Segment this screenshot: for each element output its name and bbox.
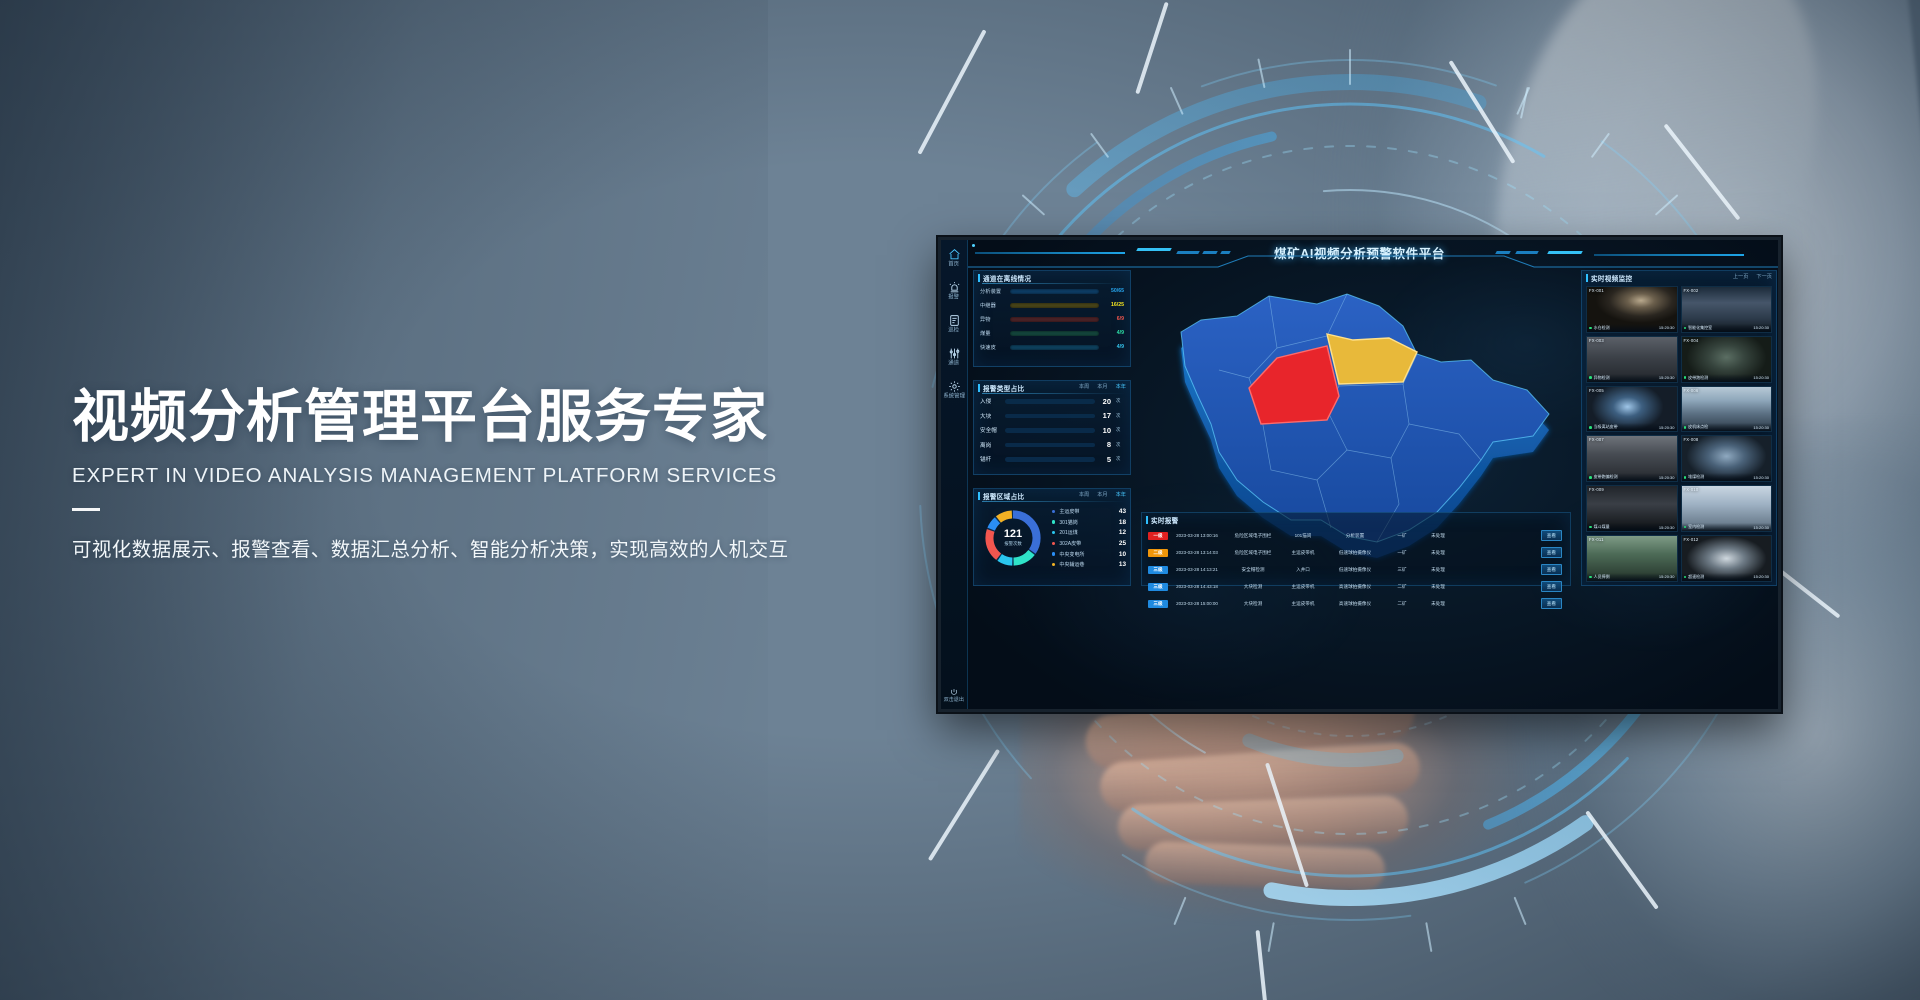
cell-mine: 二矿: [1384, 584, 1420, 590]
legend-value: 10: [1119, 551, 1126, 558]
channel-row: 分析装置50/65: [974, 284, 1130, 298]
cell-time: 2023-03-28 13:00:16: [1168, 533, 1226, 538]
cell-status: 未处理: [1420, 533, 1456, 539]
legend-color-dot: [1052, 531, 1055, 534]
camera-id: FX-008: [1684, 437, 1699, 442]
camera-name: 人员摔倒: [1594, 574, 1657, 580]
panel-title: 报警区域占比: [983, 491, 1024, 501]
channel-row-list: 分析装置50/65中继器16/25异物6/9煤量4/9快速皮4/9: [974, 284, 1130, 354]
camera-id: FX-002: [1684, 288, 1699, 293]
camera-timestamp: 15:20:30: [1753, 525, 1769, 530]
sidebar-footer-label: 双击退出: [944, 695, 964, 703]
camera-timestamp: 15:20:30: [1753, 574, 1769, 579]
camera-name: 水仓检测: [1594, 325, 1657, 331]
camera-timestamp: 15:20:30: [1659, 475, 1675, 480]
legend-value: 25: [1119, 540, 1126, 547]
view-button[interactable]: 查看: [1541, 547, 1562, 558]
channel-progress-track: [1010, 289, 1099, 294]
camera-timestamp: 15:20:30: [1753, 325, 1769, 330]
page-title: 视频分析管理平台服务专家: [72, 388, 852, 448]
alarm-type-panel: 报警类型占比 本周本月本年 入侵20次大块17次安全帽10次离岗8次锚杆5次: [973, 380, 1131, 475]
panel-title: 报警类型占比: [983, 383, 1024, 393]
cell-mine: 三矿: [1384, 567, 1420, 573]
status-badge: 二级: [1148, 549, 1168, 557]
legend-color-dot: [1052, 510, 1055, 513]
camera-id: FX-003: [1589, 338, 1604, 343]
gear-icon: [948, 380, 961, 393]
period-tabs[interactable]: 本周本月本年: [1079, 491, 1126, 498]
table-row: 一级2023-03-28 13:00:16危险区域电子围栏101猫岗分析装置一矿…: [1142, 527, 1570, 544]
video-monitor-panel: 实时视频监控 上一页 下一页 FX-001水仓检测15:20:30FX-002智…: [1581, 270, 1777, 586]
titlebar-dot: [972, 244, 975, 247]
camera-name: 室内检测: [1688, 524, 1751, 530]
camera-tile[interactable]: FX-002智能化集控室15:20:30: [1681, 286, 1773, 333]
channel-progress-track: [1010, 303, 1099, 308]
cell-time: 2023-03-28 13:14:03: [1168, 550, 1226, 555]
camera-online-dot: [1589, 576, 1592, 579]
alarm-type-row-list: 入侵20次大块17次安全帽10次离岗8次锚杆5次: [974, 394, 1130, 467]
sidebar-item-label: 报警: [949, 294, 960, 302]
panel-title: 实时报警: [1151, 515, 1179, 525]
alarm-table: 一级2023-03-28 13:00:16危险区域电子围栏101猫岗分析装置一矿…: [1142, 527, 1570, 612]
legend-item: 中央辅运巷13: [1052, 559, 1126, 570]
camera-id: FX-011: [1589, 537, 1604, 542]
donut-total-value: 121: [1004, 529, 1022, 540]
monitor-frame: 煤矿AI视频分析预警软件平台 首页: [938, 237, 1781, 712]
camera-name: 皮机床点检: [1688, 424, 1751, 430]
alarm-type-row: 锚杆5次: [974, 452, 1130, 467]
status-badge: 一级: [1148, 532, 1168, 540]
panel-title: 通道在离线情况: [983, 273, 1031, 283]
view-button[interactable]: 查看: [1541, 530, 1562, 541]
cell-device: 分析装置: [1326, 533, 1384, 539]
period-tab[interactable]: 本周: [1079, 383, 1089, 390]
camera-online-dot: [1684, 327, 1687, 330]
panel-underline: [982, 393, 1125, 394]
cell-status: 未处理: [1420, 550, 1456, 556]
alarm-type-label: 锚杆: [980, 455, 1000, 463]
camera-id: FX-004: [1684, 338, 1699, 343]
alarm-type-row: 入侵20次: [974, 394, 1130, 409]
camera-tile[interactable]: FX-003异物检测15:20:30: [1586, 336, 1678, 383]
cell-alarm-type: 安全帽检测: [1226, 567, 1280, 573]
channel-value: 4/9: [1103, 344, 1124, 350]
alarm-type-track: [1005, 399, 1095, 404]
legend-item: 301猫岗18: [1052, 517, 1126, 528]
camera-tile[interactable]: FX-009煤斗煤量15:20:30: [1586, 485, 1678, 532]
camera-id: FX-012: [1684, 537, 1699, 542]
cell-time: 2023-03-28 15:00:00: [1168, 601, 1226, 606]
period-tabs[interactable]: 本周本月本年: [1079, 383, 1126, 390]
cell-device: 高速球拍摄像仪: [1326, 584, 1384, 590]
sidebar-item-home[interactable]: 首页: [941, 248, 967, 267]
dashboard-titlebar: 煤矿AI视频分析预警软件平台: [941, 240, 1778, 266]
legend-item: 中央变电所10: [1052, 549, 1126, 560]
camera-online-dot: [1589, 376, 1592, 379]
cell-location: 主运皮带机: [1280, 584, 1326, 590]
hero-divider: [72, 508, 100, 511]
alarm-type-unit: 次: [1116, 398, 1124, 404]
alarm-type-value: 8: [1100, 440, 1111, 449]
alarm-type-label: 入侵: [980, 397, 1000, 405]
camera-timestamp: 15:20:30: [1659, 375, 1675, 380]
alarm-type-unit: 次: [1116, 413, 1124, 419]
camera-tile[interactable]: FX-012超速检测15:20:30: [1681, 535, 1773, 582]
legend-item: 主运皮带43: [1052, 506, 1126, 517]
alarm-type-row: 大块17次: [974, 409, 1130, 424]
titlebar-swoosh: [968, 254, 1778, 268]
view-button[interactable]: 查看: [1541, 598, 1562, 609]
alarm-type-row: 安全帽10次: [974, 423, 1130, 438]
panel-underline: [982, 283, 1125, 284]
panel-header: 实时报警: [1142, 513, 1570, 526]
channel-value: 6/9: [1103, 316, 1124, 322]
camera-timestamp: 15:20:30: [1753, 375, 1769, 380]
alarm-type-value: 10: [1100, 426, 1111, 435]
table-row: 三级2023-03-28 14:13:21安全帽检测入井口低速球拍摄像仪三矿未处…: [1142, 561, 1570, 578]
camera-tile[interactable]: FX-011人员摔倒15:20:30: [1586, 535, 1678, 582]
status-badge: 三级: [1148, 566, 1168, 574]
camera-name: 皮带跑偏检测: [1594, 474, 1657, 480]
camera-name: 异物检测: [1594, 375, 1657, 381]
cell-location: 入井口: [1280, 567, 1326, 573]
camera-id: FX-007: [1589, 437, 1604, 442]
panel-accent-bar: [1586, 274, 1588, 282]
channel-label: 分析装置: [980, 288, 1006, 295]
camera-id: FX-005: [1589, 388, 1604, 393]
channel-status-panel: 通道在离线情况 分析装置50/65中继器16/25异物6/9煤量4/9快速皮4/…: [973, 270, 1131, 367]
camera-tile[interactable]: FX-004皮带跑检测15:20:30: [1681, 336, 1773, 383]
legend-value: 18: [1119, 519, 1126, 526]
cell-location: 主运皮带机: [1280, 550, 1326, 556]
alarm-area-panel: 报警区域占比 本周本月本年 121 报警次数 主运皮带43301猫岗18201运…: [973, 488, 1131, 586]
cell-alarm-type: 大块检测: [1226, 601, 1280, 607]
legend-value: 43: [1119, 508, 1126, 515]
sidebar-item-system-settings[interactable]: 系统管理: [941, 380, 967, 399]
donut-chart: 121 报警次数: [982, 507, 1044, 569]
camera-timestamp: 15:20:30: [1659, 425, 1675, 430]
camera-online-dot: [1589, 476, 1592, 479]
camera-timestamp: 15:20:30: [1659, 325, 1675, 330]
alarm-type-track: [1005, 457, 1095, 462]
legend-label: 201运煤: [1059, 529, 1115, 536]
cell-location: 101猫岗: [1280, 533, 1326, 539]
camera-tile[interactable]: FX-006皮机床点检15:20:30: [1681, 386, 1773, 433]
donut-total-label: 报警次数: [1004, 541, 1022, 547]
channel-label: 异物: [980, 316, 1006, 323]
channel-progress-track: [1010, 317, 1099, 322]
status-badge: 三级: [1148, 583, 1168, 591]
panel-accent-bar: [1146, 516, 1148, 524]
alarm-type-track: [1005, 428, 1095, 433]
home-icon: [948, 248, 961, 261]
period-tab[interactable]: 本年: [1116, 383, 1126, 390]
status-badge: 三级: [1148, 600, 1168, 608]
alarm-type-unit: 次: [1116, 456, 1124, 462]
prev-page-button[interactable]: 上一页: [1733, 273, 1749, 280]
camera-name: 堆煤检测: [1688, 474, 1751, 480]
legend-label: 中央辅运巷: [1059, 561, 1115, 568]
camera-id: FX-010: [1684, 487, 1699, 492]
period-tab[interactable]: 本周: [1079, 491, 1089, 498]
alarm-type-row: 离岗8次: [974, 438, 1130, 453]
sidebar-item-inspection[interactable]: 巡检: [941, 314, 967, 333]
next-page-button[interactable]: 下一页: [1756, 273, 1772, 280]
legend-label: 302A皮带: [1059, 540, 1115, 547]
period-tab[interactable]: 本月: [1097, 383, 1107, 390]
period-tab[interactable]: 本月: [1097, 491, 1107, 498]
cell-status: 未处理: [1420, 601, 1456, 607]
cell-status: 未处理: [1420, 584, 1456, 590]
camera-online-dot: [1684, 576, 1687, 579]
alarm-type-value: 5: [1100, 455, 1111, 464]
cell-time: 2023-03-28 14:43:18: [1168, 584, 1226, 589]
camera-online-dot: [1684, 476, 1687, 479]
sidebar-item-label: 通道: [949, 360, 960, 368]
camera-timestamp: 15:20:30: [1659, 525, 1675, 530]
camera-timestamp: 15:20:30: [1753, 425, 1769, 430]
alarm-type-track: [1005, 443, 1095, 448]
cell-time: 2023-03-28 14:13:21: [1168, 567, 1226, 572]
panel-accent-bar: [978, 492, 980, 500]
legend-label: 中央变电所: [1059, 551, 1115, 558]
channel-progress-track: [1010, 345, 1099, 350]
camera-name: 智能化集控室: [1688, 325, 1751, 331]
channel-value: 50/65: [1103, 288, 1124, 294]
alarm-type-unit: 次: [1116, 442, 1124, 448]
table-row: 二级2023-03-28 13:14:03危险区域电子围栏主运皮带机低速球拍摄像…: [1142, 544, 1570, 561]
legend-value: 12: [1119, 529, 1126, 536]
camera-online-dot: [1589, 327, 1592, 330]
realtime-alarm-panel: 实时报警 一级2023-03-28 13:00:16危险区域电子围栏101猫岗分…: [1141, 512, 1571, 586]
channel-row: 中继器16/25: [974, 298, 1130, 312]
cell-alarm-type: 危险区域电子围栏: [1226, 533, 1280, 539]
cell-alarm-type: 大块检测: [1226, 584, 1280, 590]
camera-id: FX-001: [1589, 288, 1604, 293]
camera-name: 皮带跑检测: [1688, 375, 1751, 381]
alarm-type-value: 17: [1100, 411, 1111, 420]
panel-header: 实时视频监控 上一页 下一页: [1582, 271, 1776, 284]
camera-name: 当吸离站皮带: [1594, 424, 1657, 430]
sidebar-item-alarm[interactable]: 报警: [941, 281, 967, 300]
camera-online-dot: [1684, 426, 1687, 429]
channel-value: 16/25: [1103, 302, 1124, 308]
video-pagination[interactable]: 上一页 下一页: [1733, 273, 1772, 280]
channel-row: 异物6/9: [974, 312, 1130, 326]
sidebar-footer[interactable]: 双击退出: [947, 688, 961, 701]
panel-underline: [982, 501, 1125, 502]
hero-subline: EXPERT IN VIDEO ANALYSIS MANAGEMENT PLAT…: [72, 464, 852, 488]
legend-color-dot: [1052, 542, 1055, 545]
alarm-bell-icon: [948, 281, 961, 294]
channel-label: 快速皮: [980, 344, 1006, 351]
camera-id: FX-009: [1589, 487, 1604, 492]
legend-color-dot: [1052, 552, 1055, 555]
channel-progress-track: [1010, 331, 1099, 336]
legend-color-dot: [1052, 520, 1055, 523]
sidebar-item-channel[interactable]: 通道: [941, 347, 967, 366]
sidebar: 首页 报警 巡检: [941, 240, 968, 709]
sidebar-item-label: 系统管理: [943, 393, 965, 401]
channel-label: 中继器: [980, 302, 1006, 309]
cell-mine: 一矿: [1384, 533, 1420, 539]
camera-tile[interactable]: FX-007皮带跑偏检测15:20:30: [1586, 435, 1678, 482]
sidebar-item-label: 首页: [949, 261, 960, 269]
channel-row: 快速皮4/9: [974, 340, 1130, 354]
sidebar-item-label: 巡检: [949, 327, 960, 335]
sliders-channel-icon: [948, 347, 961, 360]
view-button[interactable]: 查看: [1541, 581, 1562, 592]
legend-value: 13: [1119, 561, 1126, 568]
cell-device: 高速球拍摄像仪: [1326, 601, 1384, 607]
inspection-clipboard-icon: [948, 314, 961, 327]
camera-online-dot: [1589, 526, 1592, 529]
alarm-type-label: 离岗: [980, 441, 1000, 449]
hero-description: 可视化数据展示、报警查看、数据汇总分析、智能分析决策，实现高效的人机交互: [72, 533, 852, 562]
panel-header: 报警类型占比 本周本月本年: [974, 381, 1130, 394]
table-row: 三级2023-03-28 14:43:18大块检测主运皮带机高速球拍摄像仪二矿未…: [1142, 578, 1570, 595]
period-tab[interactable]: 本年: [1116, 491, 1126, 498]
camera-online-dot: [1589, 426, 1592, 429]
cell-mine: 一矿: [1384, 550, 1420, 556]
cell-mine: 二矿: [1384, 601, 1420, 607]
camera-id: FX-006: [1684, 388, 1699, 393]
alarm-type-unit: 次: [1116, 427, 1124, 433]
donut-legend: 主运皮带43301猫岗18201运煤12302A皮带25中央变电所10中央辅运巷…: [1052, 506, 1126, 570]
video-grid: FX-001水仓检测15:20:30FX-002智能化集控室15:20:30FX…: [1586, 286, 1772, 582]
cell-device: 低速球拍摄像仪: [1326, 550, 1384, 556]
cell-device: 低速球拍摄像仪: [1326, 567, 1384, 573]
camera-tile[interactable]: FX-005当吸离站皮带15:20:30: [1586, 386, 1678, 433]
panel-header: 报警区域占比 本周本月本年: [974, 489, 1130, 502]
camera-name: 煤斗煤量: [1594, 524, 1657, 530]
hero-block: 视频分析管理平台服务专家 EXPERT IN VIDEO ANALYSIS MA…: [72, 388, 852, 562]
cell-alarm-type: 危险区域电子围栏: [1226, 550, 1280, 556]
camera-tile[interactable]: FX-010室内检测15:20:30: [1681, 485, 1773, 532]
panel-title: 实时视频监控: [1591, 273, 1632, 283]
panel-accent-bar: [978, 274, 980, 282]
legend-label: 301猫岗: [1059, 519, 1115, 526]
camera-online-dot: [1684, 526, 1687, 529]
camera-tile[interactable]: FX-008堆煤检测15:20:30: [1681, 435, 1773, 482]
panel-accent-bar: [978, 384, 980, 392]
channel-row: 煤量4/9: [974, 326, 1130, 340]
legend-item: 201运煤12: [1052, 527, 1126, 538]
dashboard-screen: 煤矿AI视频分析预警软件平台 首页: [941, 240, 1778, 709]
cell-status: 未处理: [1420, 567, 1456, 573]
legend-color-dot: [1052, 563, 1055, 566]
camera-timestamp: 15:20:30: [1753, 475, 1769, 480]
camera-timestamp: 15:20:30: [1659, 574, 1675, 579]
alarm-type-value: 20: [1100, 397, 1111, 406]
camera-online-dot: [1684, 376, 1687, 379]
table-row: 三级2023-03-28 15:00:00大块检测主运皮带机高速球拍摄像仪二矿未…: [1142, 595, 1570, 612]
view-button[interactable]: 查看: [1541, 564, 1562, 575]
channel-value: 4/9: [1103, 330, 1124, 336]
cell-location: 主运皮带机: [1280, 601, 1326, 607]
alarm-type-track: [1005, 414, 1095, 419]
legend-item: 302A皮带25: [1052, 538, 1126, 549]
alarm-type-label: 大块: [980, 412, 1000, 420]
panel-header: 通道在离线情况: [974, 271, 1130, 284]
camera-tile[interactable]: FX-001水仓检测15:20:30: [1586, 286, 1678, 333]
alarm-type-label: 安全帽: [980, 426, 1000, 434]
channel-label: 煤量: [980, 330, 1006, 337]
donut-center: 121 报警次数: [982, 507, 1044, 569]
camera-name: 超速检测: [1688, 574, 1751, 580]
legend-label: 主运皮带: [1059, 508, 1115, 515]
